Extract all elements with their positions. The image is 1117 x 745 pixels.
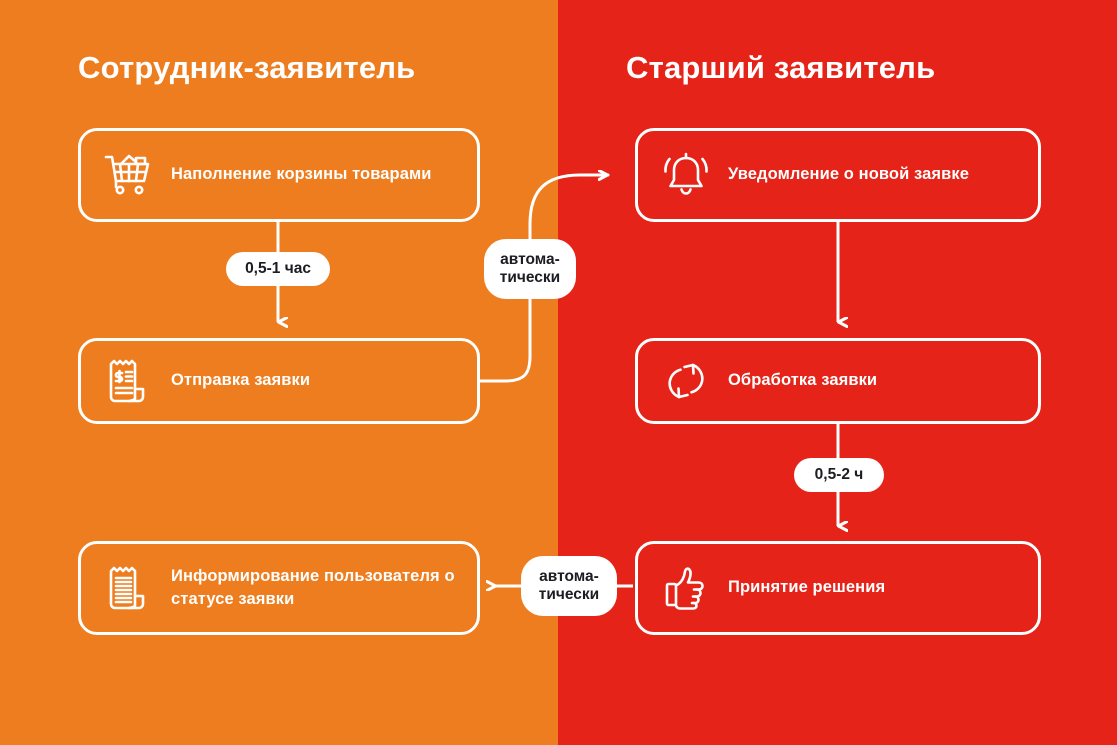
node-decision-label: Принятие решения (728, 576, 885, 599)
diagram-canvas: Сотрудник-заявитель Старший заявитель На… (0, 0, 1117, 745)
duration-badge-cart-to-send: 0,5-1 час (226, 252, 330, 286)
left-column-title: Сотрудник-заявитель (78, 50, 415, 86)
node-cart[interactable]: Наполнение корзины товарами (78, 128, 480, 222)
node-notification-label: Уведомление о новой заявке (728, 163, 969, 186)
node-inform-user-label: Информирование пользователя о статусе за… (171, 565, 477, 612)
node-send-request[interactable]: Отправка заявки (78, 338, 480, 424)
sync-arrows-icon (660, 355, 712, 407)
automatic-badge-decide-to-inform: автома- тически (521, 556, 617, 616)
document-receipt-icon (103, 562, 155, 614)
node-send-request-label: Отправка заявки (171, 369, 310, 392)
shopping-cart-icon (103, 149, 155, 201)
node-notification[interactable]: Уведомление о новой заявке (635, 128, 1041, 222)
node-inform-user[interactable]: Информирование пользователя о статусе за… (78, 541, 480, 635)
right-column-title: Старший заявитель (626, 50, 935, 86)
node-cart-label: Наполнение корзины товарами (171, 163, 432, 186)
bell-icon (660, 149, 712, 201)
node-decision[interactable]: Принятие решения (635, 541, 1041, 635)
node-process-request[interactable]: Обработка заявки (635, 338, 1041, 424)
invoice-receipt-icon (103, 355, 155, 407)
thumbs-up-icon (660, 562, 712, 614)
duration-badge-process-to-decide: 0,5-2 ч (794, 458, 884, 492)
node-process-request-label: Обработка заявки (728, 369, 877, 392)
automatic-badge-send-to-notify: автома- тически (484, 239, 576, 299)
